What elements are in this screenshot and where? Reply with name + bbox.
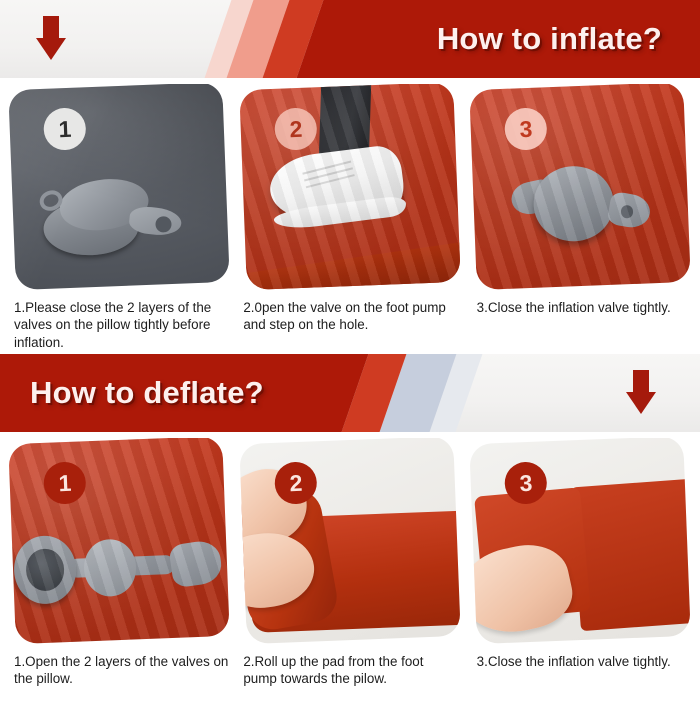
photo-frame: 3 (470, 84, 692, 290)
photo-frame: 1 (8, 84, 230, 290)
valve-neck (509, 179, 553, 218)
valve-tab (128, 205, 182, 237)
photo-frame: 2 (239, 84, 461, 290)
inflate-title: How to inflate? (437, 21, 662, 57)
valve-loop (37, 187, 65, 213)
shoe-sole (273, 195, 407, 232)
arrow-head (626, 392, 656, 414)
inflate-step-1-photo: 1 (8, 84, 231, 291)
pad-edge (239, 237, 461, 290)
inflate-caption-3: 3.Close the inflation valve tightly. (467, 299, 692, 354)
inflate-banner: How to inflate? (0, 0, 700, 78)
inflate-step-2-photo: 2 (239, 84, 462, 291)
scene-white-bg (470, 438, 692, 644)
valve-tail (606, 191, 652, 231)
deflate-caption-row: 1.Open the 2 layers of the valves on the… (0, 645, 700, 708)
deflate-step-3-photo: 3 (469, 438, 692, 645)
photo-frame: 3 (470, 438, 692, 644)
inflate-caption-row: 1.Please close the 2 layers of the valve… (0, 291, 700, 354)
valve-body (533, 165, 616, 243)
photo-frame: 2 (239, 438, 461, 644)
deflate-title: How to deflate? (30, 375, 264, 411)
valve-cap (83, 538, 137, 596)
down-arrow-icon (28, 14, 74, 64)
scene-red-fabric (470, 84, 692, 290)
valve-cap (57, 173, 152, 235)
deflate-step-1-photo: 1 (8, 438, 231, 645)
pad-fold-right (571, 479, 692, 632)
photo-frame: 1 (8, 438, 230, 644)
inflate-caption-2: 2.0pen the valve on the foot pump and st… (237, 299, 458, 354)
inflate-caption-1: 1.Please close the 2 layers of the valve… (8, 299, 229, 354)
shoe-illustration (266, 144, 406, 225)
closed-valve-illustration (511, 164, 652, 249)
deflate-step-2-photo: 2 (239, 438, 462, 645)
valve-tail (168, 539, 223, 589)
valve-strap (67, 555, 175, 578)
infographic-page: How to inflate? 1 (0, 0, 700, 700)
arrow-head (36, 38, 66, 60)
twin-valve-illustration (13, 526, 223, 608)
inflate-photo-row: 1 2 (0, 78, 700, 291)
arrow-shaft (43, 16, 59, 40)
scene-grey-mat (8, 84, 230, 290)
valve-hole (621, 205, 634, 218)
valve-base (43, 198, 140, 257)
leg-illustration (319, 84, 373, 172)
valve-open-hole (26, 549, 65, 592)
inflate-step-3-photo: 3 (469, 84, 692, 291)
scene-red-fabric (8, 438, 230, 644)
valve-hole (155, 216, 171, 233)
deflate-banner: How to deflate? (0, 354, 700, 432)
shoe-laces (303, 161, 352, 175)
deflate-photo-row: 1 2 3 (0, 432, 700, 645)
down-arrow-icon (618, 368, 664, 418)
valve-illustration (39, 171, 186, 266)
arrow-shaft (633, 370, 649, 394)
valve-ring (13, 535, 78, 606)
scene-white-bg (239, 438, 461, 644)
scene-red-pad (239, 84, 461, 290)
